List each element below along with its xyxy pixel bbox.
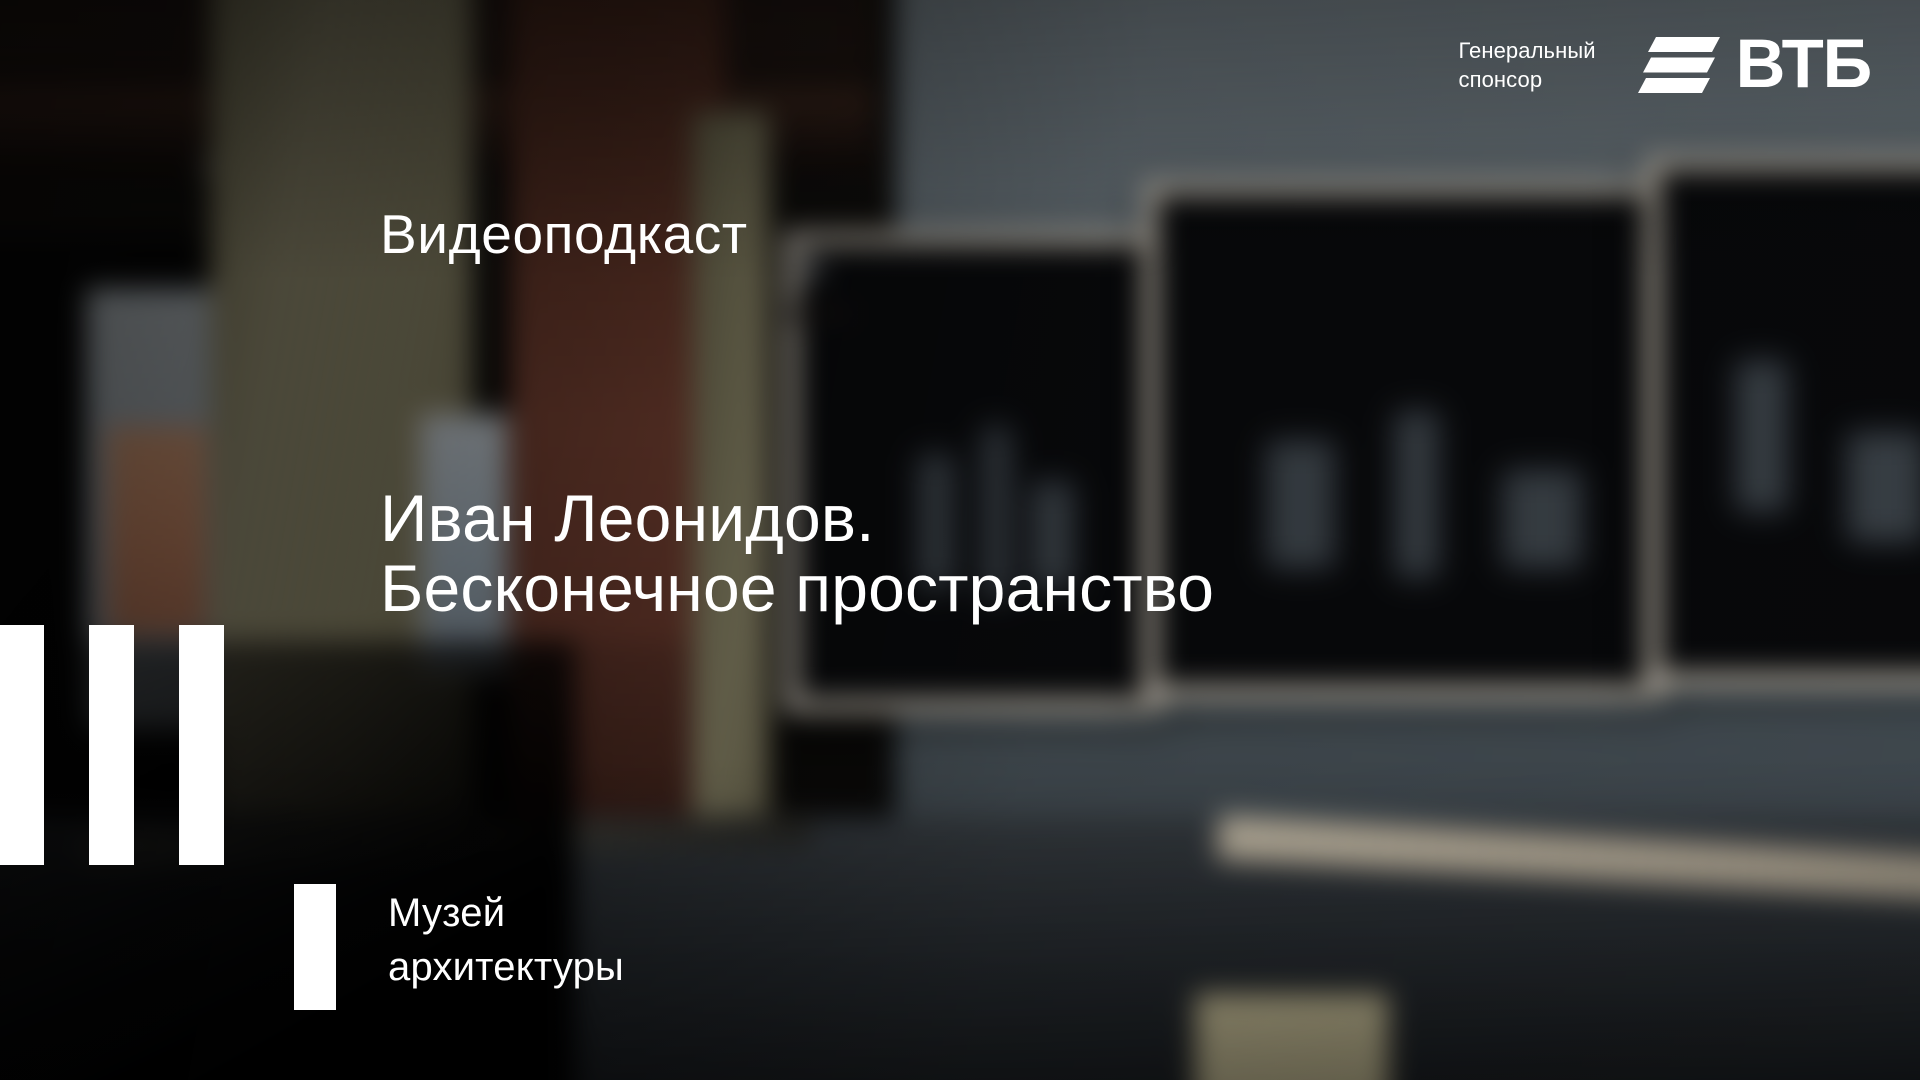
muar-logo-bar [179,625,224,865]
video-podcast-title-card: Генеральный спонсор ВТБ Видеоподкаст Ива… [0,0,1920,1080]
museum-name: Музей архитектуры [388,886,624,995]
sponsor-caption: Генеральный спонсор [1458,37,1595,93]
vtb-logo: ВТБ [1638,33,1871,98]
muar-three-bars-logo [0,625,224,865]
museum-credit: Музей архитектуры [294,884,624,1010]
vtb-wordmark: ВТБ [1736,29,1871,98]
format-label: Видеоподкаст [380,207,748,262]
content-layer: Генеральный спонсор ВТБ Видеоподкаст Ива… [0,0,1920,1080]
page-title: Иван Леонидов. Бесконечное пространство [380,484,1214,624]
vtb-three-bars-icon [1638,35,1720,97]
sponsor-lockup: Генеральный спонсор ВТБ [1458,33,1871,98]
museum-accent-bar [294,884,336,1010]
muar-logo-bar [0,625,44,865]
muar-logo-bar [89,625,134,865]
